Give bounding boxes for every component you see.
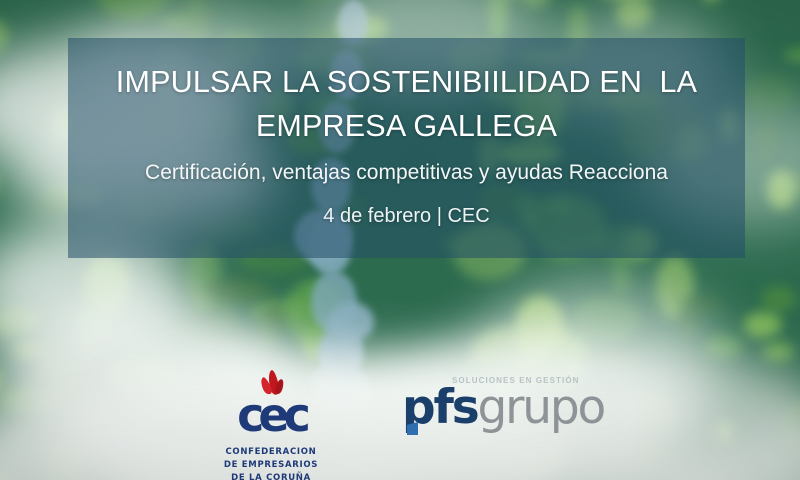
- cec-tagline: CONFEDERACION DE EMPRESARIOS DE LA CORUÑ…: [196, 446, 346, 480]
- pfsgrupo-logo: SOLUCIONES EN GESTIÓN pfsgrupo: [402, 376, 612, 434]
- headline-panel: IMPULSAR LA SOSTENIBIILIDAD EN LA EMPRES…: [68, 38, 745, 258]
- cec-wordmark: cec: [196, 392, 346, 438]
- pfs-wordmark: pfsgrupo: [402, 382, 612, 434]
- event-dateline: 4 de febrero | CEC: [94, 202, 719, 230]
- pfs-wordmark-light: grupo: [477, 380, 604, 435]
- cec-tagline-line-3: DE LA CORUÑA: [196, 472, 346, 480]
- flame-icon: [196, 370, 346, 396]
- cec-tagline-line-2: DE EMPRESARIOS: [196, 459, 346, 472]
- event-subtitle: Certificación, ventajas competitivas y a…: [94, 158, 719, 188]
- event-title-line-2: EMPRESA GALLEGA: [256, 109, 557, 143]
- cec-logo: cec CONFEDERACION DE EMPRESARIOS DE LA C…: [196, 370, 346, 480]
- cec-tagline-line-1: CONFEDERACION: [196, 446, 346, 459]
- event-title-line-1: IMPULSAR LA SOSTENIBIILIDAD EN LA: [116, 65, 697, 99]
- event-title: IMPULSAR LA SOSTENIBIILIDAD EN LA EMPRES…: [94, 60, 719, 148]
- promo-banner: IMPULSAR LA SOSTENIBIILIDAD EN LA EMPRES…: [0, 0, 800, 480]
- logo-strip: cec CONFEDERACION DE EMPRESARIOS DE LA C…: [0, 362, 800, 480]
